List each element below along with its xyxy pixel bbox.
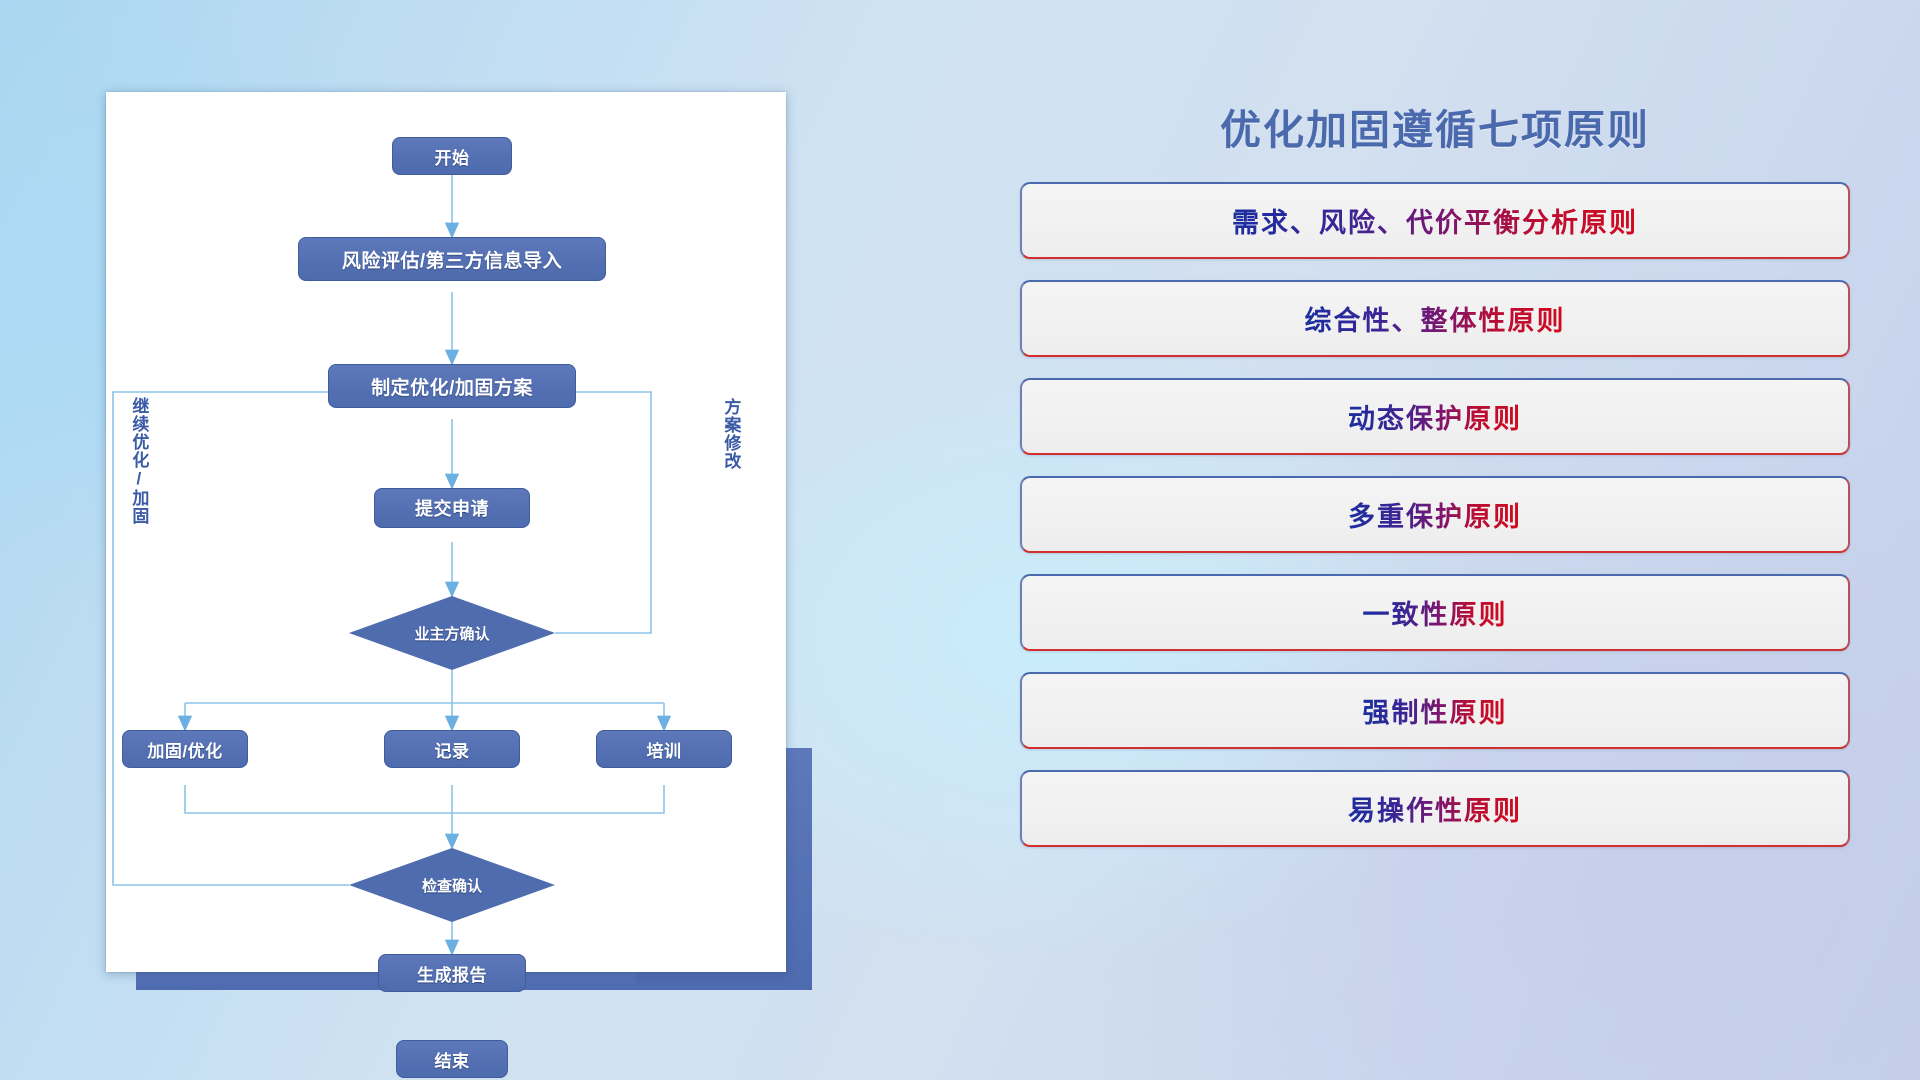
flow-node-submit-application[interactable]: 提交申请 — [374, 488, 530, 528]
flow-node-start-label: 开始 — [435, 144, 470, 169]
flow-node-risk-assessment-label: 风险评估/第三方信息导入 — [342, 246, 562, 273]
principle-card[interactable]: 综合性、整体性原则 — [1020, 280, 1850, 357]
principle-card[interactable]: 动态保护原则 — [1020, 378, 1850, 455]
flow-decision-owner-confirm[interactable]: 业主方确认 — [349, 596, 555, 670]
principle-label: 多重保护原则 — [1348, 495, 1522, 534]
principle-card[interactable]: 需求、风险、代价平衡分析原则 — [1020, 182, 1850, 259]
flow-edge-label-right-loop: 方案修改 — [722, 398, 739, 470]
principle-card[interactable]: 易操作性原则 — [1020, 770, 1850, 847]
flow-node-generate-report[interactable]: 生成报告 — [378, 954, 526, 992]
principles-panel: 优化加固遵循七项原则 需求、风险、代价平衡分析原则 综合性、整体性原则 动态保护… — [1020, 96, 1850, 1026]
flow-node-generate-report-label: 生成报告 — [417, 961, 487, 986]
flow-node-submit-application-label: 提交申请 — [415, 495, 489, 521]
flow-node-plan-label: 制定优化/加固方案 — [371, 373, 533, 400]
principle-label: 综合性、整体性原则 — [1305, 299, 1566, 338]
flow-node-reinforce-label: 加固/优化 — [147, 737, 222, 762]
flowchart-connectors — [106, 92, 786, 972]
flow-decision-inspection-confirm-label: 检查确认 — [422, 875, 482, 896]
flow-node-plan[interactable]: 制定优化/加固方案 — [328, 364, 576, 408]
principle-label: 一致性原则 — [1363, 593, 1508, 632]
flow-node-record[interactable]: 记录 — [384, 730, 520, 768]
flow-node-training[interactable]: 培训 — [596, 730, 732, 768]
flow-node-start[interactable]: 开始 — [392, 137, 512, 175]
panel-title: 优化加固遵循七项原则 — [1020, 96, 1850, 156]
flow-node-reinforce[interactable]: 加固/优化 — [122, 730, 248, 768]
principle-card[interactable]: 多重保护原则 — [1020, 476, 1850, 553]
principle-card[interactable]: 一致性原则 — [1020, 574, 1850, 651]
principle-label: 易操作性原则 — [1348, 789, 1522, 828]
flow-decision-inspection-confirm[interactable]: 检查确认 — [349, 848, 555, 922]
flow-node-end[interactable]: 结束 — [396, 1040, 508, 1078]
flow-edge-label-left-loop: 继续优化/加固 — [130, 397, 147, 525]
flowchart-card: 开始 风险评估/第三方信息导入 制定优化/加固方案 提交申请 业主方确认 加固/… — [106, 92, 786, 972]
principles-list: 需求、风险、代价平衡分析原则 综合性、整体性原则 动态保护原则 多重保护原则 一… — [1020, 182, 1850, 847]
flow-decision-owner-confirm-label: 业主方确认 — [414, 623, 489, 644]
principle-label: 动态保护原则 — [1348, 397, 1522, 436]
flow-node-risk-assessment[interactable]: 风险评估/第三方信息导入 — [298, 237, 606, 281]
flow-node-record-label: 记录 — [435, 737, 470, 762]
principle-label: 强制性原则 — [1363, 691, 1508, 730]
principle-label: 需求、风险、代价平衡分析原则 — [1232, 201, 1638, 240]
flow-node-training-label: 培训 — [647, 737, 682, 762]
principle-card[interactable]: 强制性原则 — [1020, 672, 1850, 749]
flow-node-end-label: 结束 — [435, 1047, 470, 1072]
